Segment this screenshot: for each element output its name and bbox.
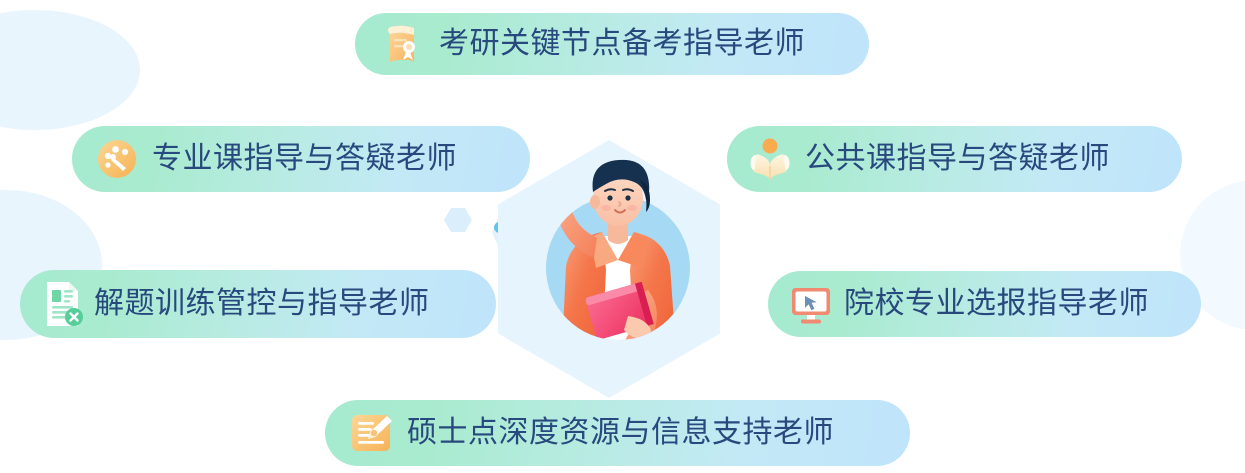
feature-callout-graphic: 考研关键节点备考指导老师 专业课指导与答疑老师 <box>0 0 1245 473</box>
center-illustration <box>498 140 720 398</box>
callout-pill-exam-milestone[interactable]: 考研关键节点备考指导老师 <box>355 13 869 75</box>
monitor-cursor-icon <box>788 281 834 327</box>
callout-pill-drill-training[interactable]: 解题训练管控与指导老师 <box>20 270 496 338</box>
person-reading-book-icon <box>747 136 793 182</box>
callout-pill-master-resources[interactable]: 硕士点深度资源与信息支持老师 <box>325 400 910 466</box>
callout-label: 硕士点深度资源与信息支持老师 <box>407 418 834 448</box>
callout-pill-school-selection[interactable]: 院校专业选报指导老师 <box>768 271 1201 337</box>
callout-label: 公共课指导与答疑老师 <box>805 144 1110 174</box>
callout-label: 院校专业选报指导老师 <box>844 289 1149 319</box>
scroll-certificate-icon <box>379 21 425 67</box>
callout-label: 专业课指导与答疑老师 <box>152 144 457 174</box>
notepad-pencil-icon <box>347 409 395 457</box>
gauge-dial-icon <box>94 136 140 182</box>
pointing-student-illustration <box>498 140 720 398</box>
callout-label: 考研关键节点备考指导老师 <box>439 29 805 59</box>
document-checklist-icon <box>38 279 86 329</box>
callout-pill-public-course[interactable]: 公共课指导与答疑老师 <box>727 126 1182 192</box>
blue-blob-upper-left <box>0 10 140 130</box>
small-hexagon <box>444 207 472 233</box>
callout-label: 解题训练管控与指导老师 <box>94 289 430 319</box>
callout-pill-major-course[interactable]: 专业课指导与答疑老师 <box>72 126 530 192</box>
